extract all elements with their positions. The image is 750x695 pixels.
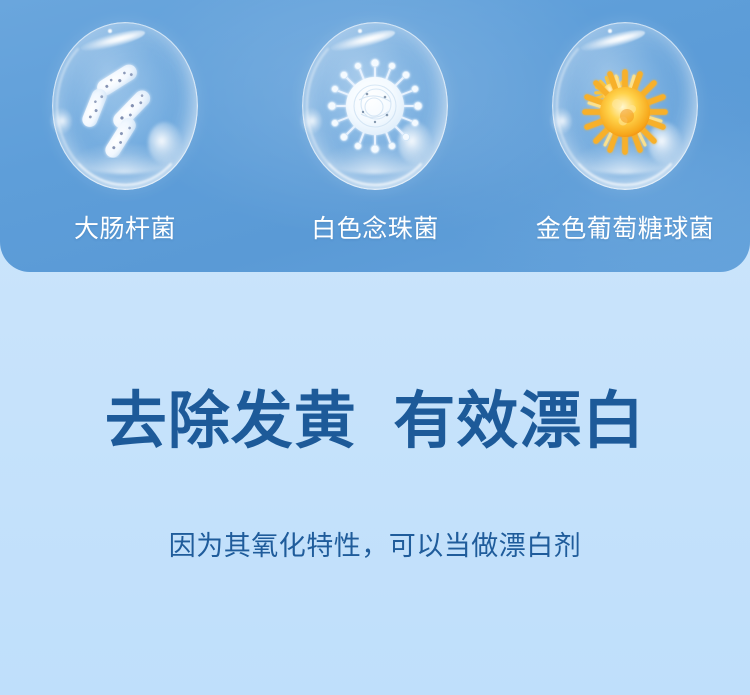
soap-bubble-icon <box>552 22 698 190</box>
bacteria-cell-3: 金色葡萄糖球菌 <box>500 0 750 210</box>
bubble-highlight-left <box>300 108 322 134</box>
bubble-highlight-top <box>79 26 146 55</box>
golden-staph-cluster-icon <box>573 54 677 158</box>
bacteria-label-1: 大肠杆菌 <box>0 212 250 246</box>
bubble-sparkle-dot <box>358 29 362 33</box>
soap-bubble-icon <box>52 22 198 190</box>
bubble-sparkle-dot <box>608 29 612 33</box>
bubble-highlight-top <box>329 26 396 55</box>
bacteria-label-3: 金色葡萄糖球菌 <box>500 212 750 246</box>
soap-bubble-icon <box>302 22 448 190</box>
bacteria-label-2: 白色念珠菌 <box>250 212 500 246</box>
bacteria-cell-2: 白色念珠菌 <box>250 0 500 210</box>
bacteria-cell-1: 大肠杆菌 <box>0 0 250 210</box>
bubble-highlight-top <box>579 26 646 55</box>
bubble-highlight-left <box>50 108 72 134</box>
page-subheadline: 因为其氧化特性，可以当做漂白剂 <box>0 527 750 565</box>
promo-page: 大肠杆菌 <box>0 0 750 695</box>
bubble-sparkle-dot <box>108 29 112 33</box>
page-headline: 去除发黄 有效漂白 <box>0 386 750 458</box>
bubble-highlight-left <box>550 108 572 134</box>
spiked-sphere-microbe-icon <box>323 54 427 158</box>
bacteria-panel: 大肠杆菌 <box>0 0 750 272</box>
rod-bacteria-icon <box>73 54 177 158</box>
bubble-row: 大肠杆菌 <box>0 0 750 210</box>
